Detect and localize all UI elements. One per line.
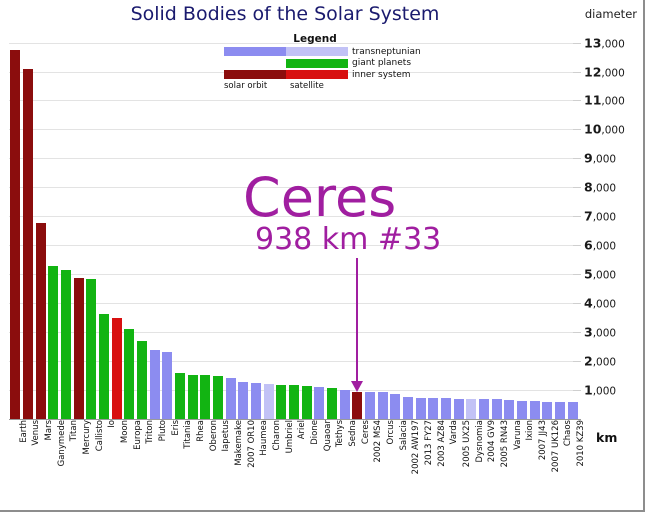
y-tick-label: 2,000 <box>584 354 616 369</box>
bar-venus[interactable] <box>23 69 33 419</box>
y-tick-label: 5,000 <box>584 267 616 282</box>
bar-dione[interactable] <box>302 386 312 419</box>
x-tick-label: Quaoar <box>323 420 333 451</box>
chart-canvas: Solid Bodies of the Solar System diamete… <box>0 0 645 512</box>
x-tick-label: Eris <box>171 420 181 436</box>
x-tick-label: 2003 AZ84 <box>437 420 447 467</box>
x-tick-label: Tethys <box>335 420 345 447</box>
x-tick-label: Mars <box>44 420 54 440</box>
x-tick-label: Ceres <box>361 420 371 444</box>
bar-io[interactable] <box>99 314 109 419</box>
y-tick-label: 13,000 <box>584 35 625 50</box>
bar-2013-fy27[interactable] <box>416 398 426 419</box>
legend-swatch-solar-orbit <box>224 47 286 56</box>
x-tick-label: Mercury <box>82 420 92 454</box>
annotation-arrow-head <box>351 381 363 392</box>
y-tick-mark <box>573 43 581 44</box>
bar-2002-aw197[interactable] <box>403 397 413 419</box>
x-tick-label: 2007 OR10 <box>247 420 257 468</box>
x-tick-label: Ariel <box>297 420 307 439</box>
x-tick-label: 2004 GV9 <box>487 420 497 462</box>
x-tick-label: Ixion <box>525 420 535 441</box>
y-tick-mark <box>573 274 581 275</box>
legend-label: inner system <box>352 70 411 80</box>
y-tick-mark <box>573 129 581 130</box>
bar-2005-rn43[interactable] <box>492 399 502 419</box>
bar-callisto[interactable] <box>86 279 96 419</box>
y-tick-mark <box>573 100 581 101</box>
y-tick-label: 7,000 <box>584 209 616 224</box>
annotation-detail: 938 km #33 <box>255 222 441 257</box>
bar-pluto[interactable] <box>150 350 160 419</box>
bar-iapetus[interactable] <box>213 376 223 419</box>
x-tick-label: Varda <box>449 420 459 444</box>
y-tick-mark <box>573 245 581 246</box>
bar-moon[interactable] <box>112 318 122 419</box>
bar-charon[interactable] <box>264 384 274 419</box>
y-tick-mark <box>573 187 581 188</box>
y-tick-mark <box>573 303 581 304</box>
bar-tethys[interactable] <box>327 388 337 419</box>
bar-quaoar[interactable] <box>314 387 324 419</box>
legend: Legend transneptuniangiant planetsinner … <box>224 33 414 91</box>
bar-mercury[interactable] <box>74 278 84 419</box>
bar-ixion[interactable] <box>517 401 527 419</box>
bar-sedna[interactable] <box>340 390 350 419</box>
y-tick-mark <box>573 158 581 159</box>
bar-makemake[interactable] <box>226 378 236 419</box>
bar-2007-jj43[interactable] <box>530 401 540 419</box>
legend-row <box>224 47 348 56</box>
bar-2007-or10[interactable] <box>238 382 248 419</box>
legend-title: Legend <box>260 33 370 45</box>
y-tick-mark <box>573 216 581 217</box>
bar-2007-uk126[interactable] <box>542 402 552 419</box>
x-tick-label: Dione <box>310 420 320 445</box>
bar-ceres[interactable] <box>352 392 362 419</box>
bar-titania[interactable] <box>175 373 185 419</box>
legend-swatch-solar-orbit <box>224 59 286 68</box>
x-tick-label: Venus <box>31 420 41 446</box>
x-tick-label: 2007 JJ43 <box>538 420 548 460</box>
bar-europa[interactable] <box>124 329 134 419</box>
y-tick-mark <box>573 390 581 391</box>
legend-row <box>224 70 348 79</box>
bar-chaos[interactable] <box>555 402 565 419</box>
x-tick-label: Chaos <box>563 420 573 446</box>
x-tick-label: 2005 UX25 <box>462 420 472 467</box>
x-tick-label: Dysnomia <box>475 420 485 462</box>
y-axis-title: diameter <box>585 7 637 21</box>
x-tick-label: 2005 RN43 <box>500 420 510 467</box>
x-tick-label: Sedna <box>348 420 358 447</box>
x-tick-label: Iapetus <box>221 420 231 452</box>
x-tick-label: 2002 MS4 <box>373 420 383 462</box>
x-tick-label: Umbriel <box>285 420 295 453</box>
bar-umbriel[interactable] <box>276 385 286 419</box>
page-title: Solid Bodies of the Solar System <box>0 3 570 25</box>
x-tick-label: Triton <box>145 420 155 444</box>
x-tick-label: Charon <box>272 420 282 450</box>
legend-swatch-solar-orbit <box>224 70 286 79</box>
bar-varuna[interactable] <box>504 400 514 419</box>
x-tick-label: Ganymede <box>57 420 67 466</box>
bar-2005-ux25[interactable] <box>454 399 464 419</box>
y-tick-label: 4,000 <box>584 296 616 311</box>
bar-2010-kz39[interactable] <box>568 402 578 419</box>
x-tick-label: Rhea <box>196 420 206 442</box>
legend-swatch-satellite <box>286 70 348 79</box>
y-tick-label: 12,000 <box>584 64 625 79</box>
x-tick-label: Haumea <box>259 420 269 456</box>
x-tick-label: Io <box>107 420 117 428</box>
bar-titan[interactable] <box>61 270 71 419</box>
y-tick-label: 1,000 <box>584 383 616 398</box>
y-tick-mark <box>573 332 581 333</box>
x-tick-label: 2013 FY27 <box>424 420 434 465</box>
y-tick-label: 3,000 <box>584 325 616 340</box>
x-tick-label: 2010 KZ39 <box>576 420 586 467</box>
bar-dysnomia[interactable] <box>466 399 476 419</box>
bar-salacia[interactable] <box>390 394 400 419</box>
bar-earth[interactable] <box>10 50 20 419</box>
bar-triton[interactable] <box>137 341 147 419</box>
x-tick-label: Oberon <box>209 420 219 451</box>
x-tick-label: Titania <box>183 420 193 449</box>
legend-col-label-satellite: satellite <box>290 81 324 91</box>
y-tick-mark <box>573 361 581 362</box>
bar-2004-gv9[interactable] <box>479 399 489 419</box>
x-tick-label: Europa <box>133 420 143 450</box>
legend-swatch-satellite <box>286 59 348 68</box>
y-tick-label: 10,000 <box>584 122 625 137</box>
x-tick-label: Makemake <box>234 420 244 466</box>
legend-swatch-satellite <box>286 47 348 56</box>
y-tick-label: 8,000 <box>584 180 616 195</box>
legend-label: giant planets <box>352 58 411 68</box>
bar-varda[interactable] <box>441 398 451 419</box>
y-tick-label: 6,000 <box>584 238 616 253</box>
bar-2002-ms4[interactable] <box>365 392 375 419</box>
x-tick-label: Salacia <box>399 420 409 450</box>
y-tick-label: 9,000 <box>584 151 616 166</box>
bar-orcus[interactable] <box>378 392 388 419</box>
bar-eris[interactable] <box>162 352 172 419</box>
x-tick-label: Pluto <box>158 420 168 441</box>
legend-row <box>224 59 348 68</box>
x-tick-label: Varuna <box>513 420 523 450</box>
annotation-title: Ceres <box>243 166 396 229</box>
legend-label: transneptunian <box>352 47 421 57</box>
x-tick-label: 2007 UK126 <box>551 420 561 472</box>
x-tick-label: 2002 AW197 <box>411 420 421 474</box>
bar-ganymede[interactable] <box>48 266 58 419</box>
bar-ariel[interactable] <box>289 385 299 419</box>
x-axis-labels: EarthVenusMarsGanymedeTitanMercuryCallis… <box>9 420 579 512</box>
y-unit-label: km <box>596 430 617 445</box>
legend-col-label-solar-orbit: solar orbit <box>224 81 267 91</box>
bar-2003-az84[interactable] <box>428 398 438 419</box>
x-tick-label: Titan <box>69 420 79 441</box>
bar-mars[interactable] <box>36 223 46 419</box>
bar-rhea[interactable] <box>188 375 198 419</box>
y-tick-mark <box>573 72 581 73</box>
bar-oberon[interactable] <box>200 375 210 419</box>
bar-haumea[interactable] <box>251 383 261 419</box>
x-tick-label: Orcus <box>386 420 396 445</box>
x-tick-label: Callisto <box>95 420 105 451</box>
annotation-arrow-line <box>356 258 358 382</box>
x-tick-label: Earth <box>19 420 29 443</box>
y-tick-label: 11,000 <box>584 93 625 108</box>
x-tick-label: Moon <box>120 420 130 443</box>
